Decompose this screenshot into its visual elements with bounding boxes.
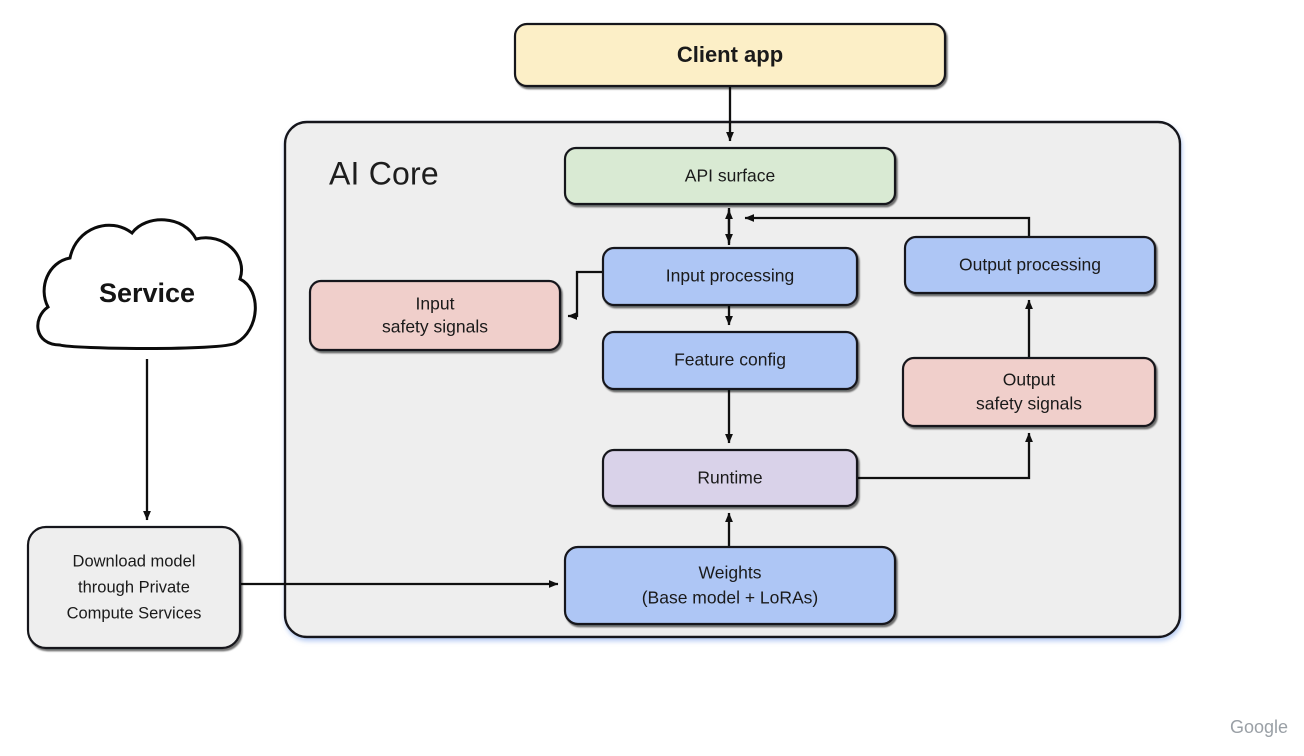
output-safety-signals-label-line1: Output — [1003, 370, 1056, 390]
runtime-label: Runtime — [697, 468, 762, 488]
input-safety-signals-box — [310, 281, 560, 350]
weights-box — [565, 547, 895, 624]
node-client-app[interactable]: Client app — [515, 24, 945, 86]
node-input-safety-signals[interactable]: Input safety signals — [310, 281, 560, 350]
input-safety-signals-label-line2: safety signals — [382, 317, 488, 337]
input-processing-label: Input processing — [666, 266, 794, 286]
node-output-safety-signals[interactable]: Output safety signals — [903, 358, 1155, 426]
api-surface-label: API surface — [685, 166, 775, 186]
node-input-processing[interactable]: Input processing — [603, 248, 857, 305]
weights-label-line1: Weights — [699, 563, 762, 583]
architecture-diagram-canvas: AI Core — [0, 0, 1304, 756]
weights-label-line2: (Base model + LoRAs) — [642, 588, 819, 608]
output-processing-label: Output processing — [959, 255, 1101, 275]
node-weights[interactable]: Weights (Base model + LoRAs) — [565, 547, 895, 624]
node-runtime[interactable]: Runtime — [603, 450, 857, 506]
client-app-label: Client app — [677, 42, 783, 67]
output-safety-signals-box — [903, 358, 1155, 426]
google-brand-label: Google — [1230, 717, 1288, 737]
download-model-label-line3: Compute Services — [67, 604, 202, 622]
feature-config-label: Feature config — [674, 350, 786, 370]
output-safety-signals-label-line2: safety signals — [976, 394, 1082, 414]
node-feature-config[interactable]: Feature config — [603, 332, 857, 389]
node-api-surface[interactable]: API surface — [565, 148, 895, 204]
ai-core-title: AI Core — [329, 155, 439, 191]
input-safety-signals-label-line1: Input — [416, 294, 455, 314]
service-cloud[interactable]: Service — [38, 220, 256, 349]
diagram-root: AI Core — [0, 0, 1304, 756]
download-model-label-line1: Download model — [73, 552, 196, 570]
download-model-label-line2: through Private — [78, 578, 190, 596]
node-download-model[interactable]: Download model through Private Compute S… — [28, 527, 240, 648]
service-cloud-label: Service — [99, 278, 195, 308]
node-output-processing[interactable]: Output processing — [905, 237, 1155, 293]
